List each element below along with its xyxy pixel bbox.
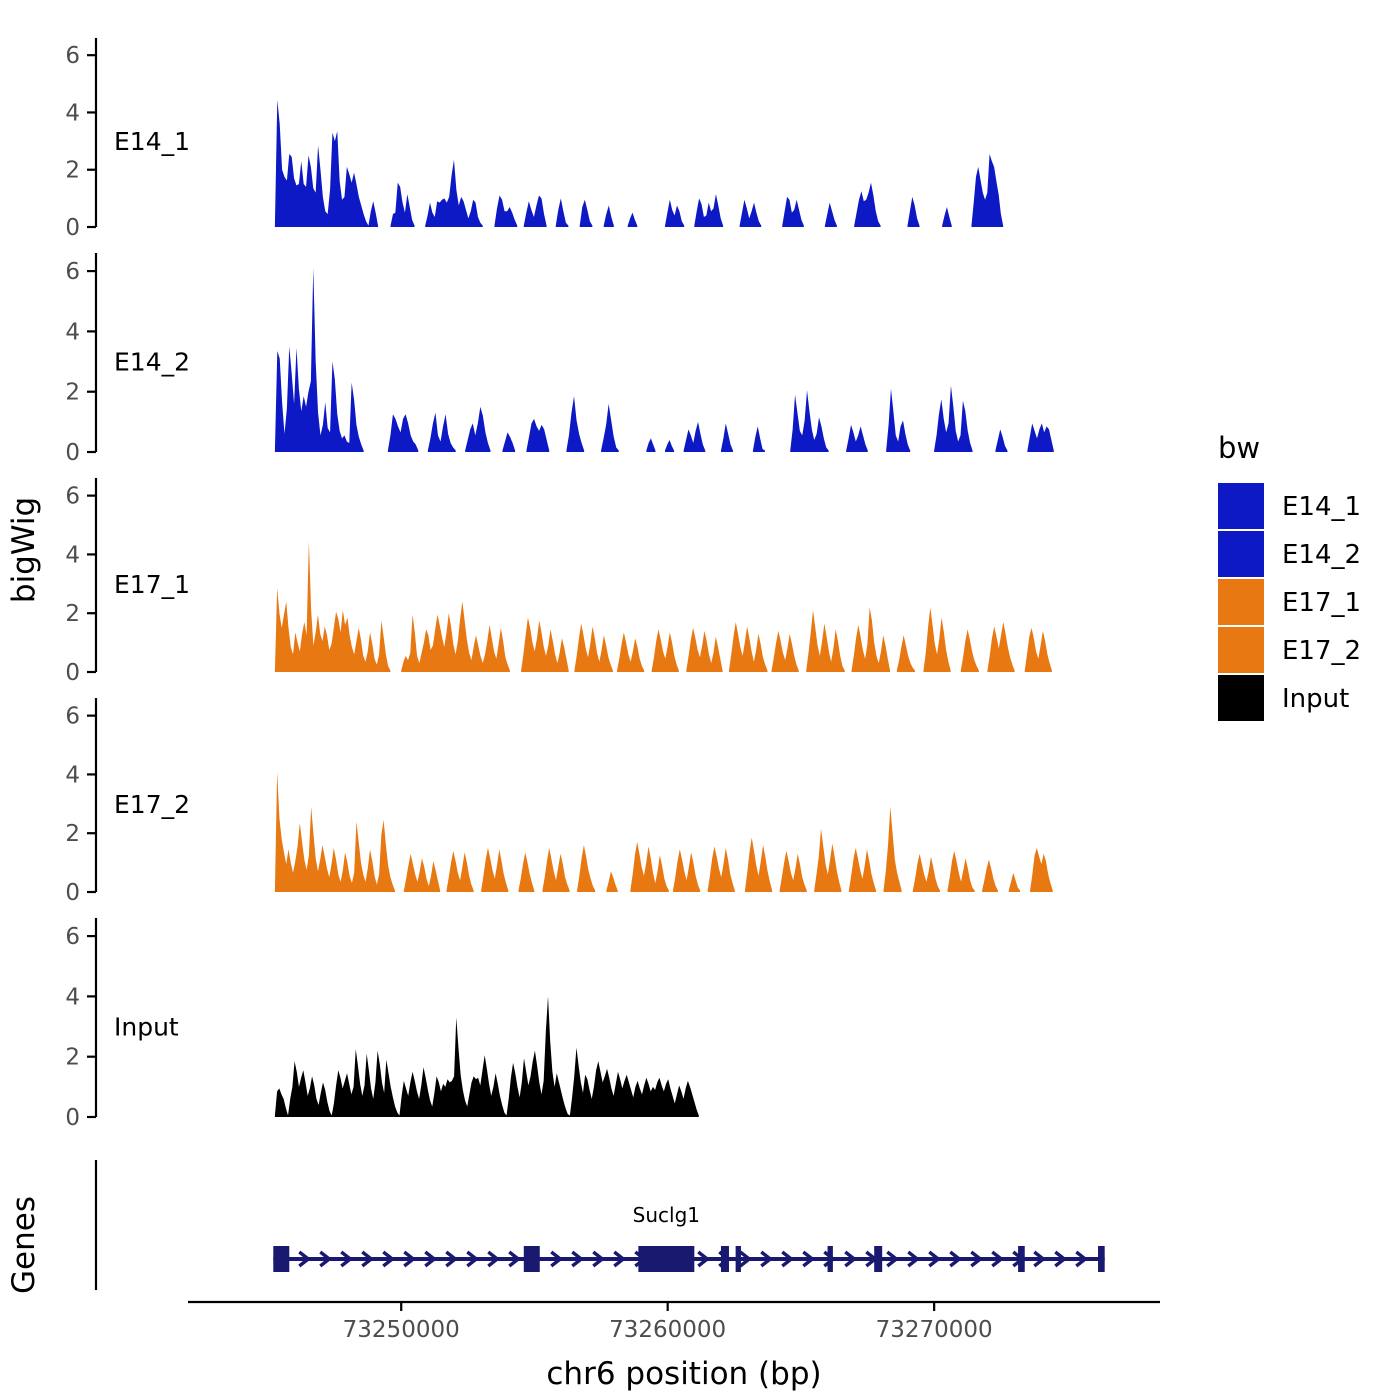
y-tick-label: 0 bbox=[65, 215, 80, 241]
legend-swatch bbox=[1218, 531, 1264, 577]
y-tick-label: 6 bbox=[65, 43, 80, 69]
y-tick-label: 0 bbox=[65, 1105, 80, 1131]
legend-swatch bbox=[1218, 675, 1264, 721]
gene-exon-block[interactable] bbox=[638, 1246, 694, 1272]
legend-label: E14_2 bbox=[1282, 540, 1361, 570]
gene-exon-block[interactable] bbox=[273, 1246, 289, 1272]
legend-label: E17_1 bbox=[1282, 588, 1361, 618]
y-tick-label: 4 bbox=[65, 100, 80, 126]
y-tick-label: 0 bbox=[65, 880, 80, 906]
gene-exon-block[interactable] bbox=[524, 1246, 540, 1272]
y-tick-label: 0 bbox=[65, 440, 80, 466]
gene-exon-block[interactable] bbox=[736, 1246, 741, 1272]
legend-swatch bbox=[1218, 483, 1264, 529]
x-tick-label: 73250000 bbox=[343, 1317, 460, 1343]
y-tick-label: 2 bbox=[65, 1045, 80, 1071]
x-axis-title: chr6 position (bp) bbox=[546, 1356, 821, 1392]
track-name-label: E14_2 bbox=[114, 348, 190, 377]
y-tick-label: 2 bbox=[65, 380, 80, 406]
gene-exon-block[interactable] bbox=[1098, 1246, 1105, 1272]
y-axis-title: bigWig bbox=[6, 497, 42, 603]
y-tick-label: 6 bbox=[65, 259, 80, 285]
y-tick-label: 2 bbox=[65, 158, 80, 184]
track-name-label: E17_1 bbox=[114, 570, 190, 599]
y-tick-label: 4 bbox=[65, 319, 80, 345]
gene-exon-block[interactable] bbox=[874, 1246, 882, 1272]
figure-root: bigWig Genes 0246E14_10246E14_20246E17_1… bbox=[0, 0, 1400, 1400]
gene-exon-block[interactable] bbox=[721, 1246, 729, 1272]
x-tick-label: 73260000 bbox=[609, 1317, 726, 1343]
x-tick-label: 73270000 bbox=[876, 1317, 993, 1343]
genome-browser-figure: bigWig Genes 0246E14_10246E14_20246E17_1… bbox=[0, 0, 1400, 1400]
y-tick-label: 2 bbox=[65, 821, 80, 847]
gene-name-label: Suclg1 bbox=[633, 1203, 700, 1227]
genes-panel-label: Genes bbox=[6, 1196, 42, 1294]
track-name-label: E14_1 bbox=[114, 127, 190, 156]
y-tick-label: 4 bbox=[65, 984, 80, 1010]
y-tick-label: 0 bbox=[65, 660, 80, 686]
track-name-label: Input bbox=[114, 1013, 179, 1042]
legend-title: bw bbox=[1218, 431, 1260, 465]
y-tick-label: 4 bbox=[65, 542, 80, 568]
y-tick-label: 4 bbox=[65, 762, 80, 788]
legend-swatch bbox=[1218, 579, 1264, 625]
track-name-label: E17_2 bbox=[114, 790, 190, 819]
legend-label: E17_2 bbox=[1282, 636, 1361, 666]
legend-label: Input bbox=[1282, 684, 1349, 714]
y-tick-label: 2 bbox=[65, 601, 80, 627]
y-tick-label: 6 bbox=[65, 704, 80, 730]
legend-swatch bbox=[1218, 627, 1264, 673]
y-tick-label: 6 bbox=[65, 924, 80, 950]
y-tick-label: 6 bbox=[65, 484, 80, 510]
gene-exon-block[interactable] bbox=[1018, 1246, 1025, 1272]
legend-label: E14_1 bbox=[1282, 492, 1361, 522]
gene-exon-block[interactable] bbox=[828, 1246, 833, 1272]
